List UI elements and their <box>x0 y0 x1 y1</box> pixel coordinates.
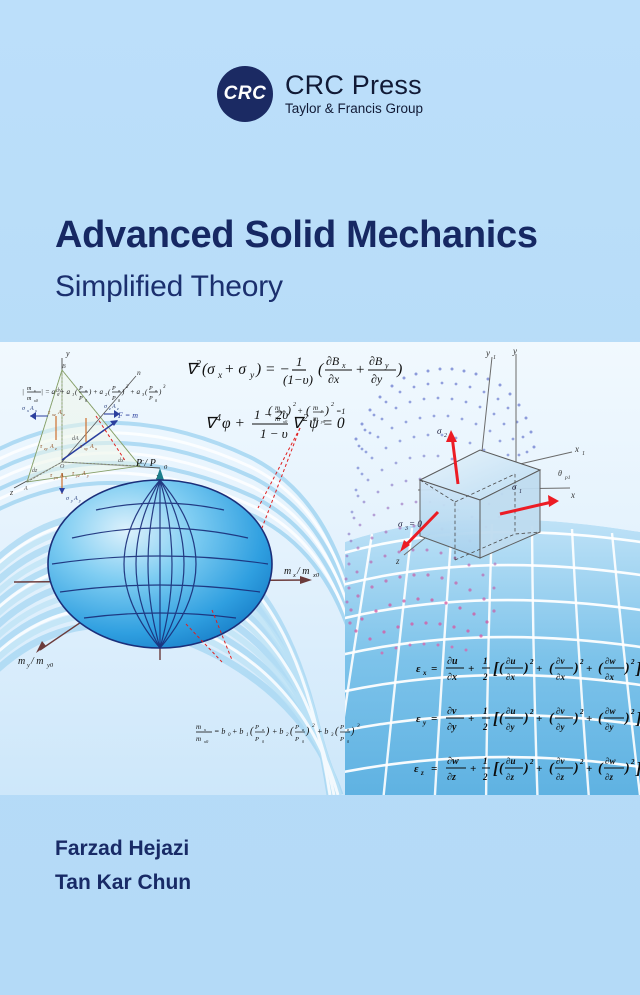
svg-text:a: a <box>262 727 264 732</box>
svg-text:/ m: / m <box>30 656 44 667</box>
svg-text:0: 0 <box>302 739 304 744</box>
svg-text:P: P <box>254 724 259 731</box>
svg-text:A: A <box>57 410 62 416</box>
vertex-label-B: B <box>62 364 66 370</box>
svg-text:2: 2 <box>196 359 201 370</box>
svg-text:ε: ε <box>416 713 421 725</box>
svg-text:a: a <box>85 388 87 393</box>
svg-text:2: 2 <box>630 758 635 766</box>
svg-text:∂y: ∂y <box>556 722 565 732</box>
svg-text:x: x <box>203 727 206 732</box>
svg-text:+: + <box>536 763 542 775</box>
svg-text:P: P <box>148 396 153 402</box>
crc-roundel-icon: CRC <box>217 66 273 122</box>
svg-text:P: P <box>339 736 344 743</box>
svg-text:+ b: + b <box>317 727 328 736</box>
svg-text:yz: yz <box>75 473 80 478</box>
svg-text:2: 2 <box>529 758 534 766</box>
svg-text:+: + <box>586 763 592 775</box>
svg-text:m: m <box>27 396 32 402</box>
svg-text:A: A <box>49 444 54 450</box>
svg-text:φ +: φ + <box>222 415 245 432</box>
svg-text:0: 0 <box>347 739 349 744</box>
svg-text:yx: yx <box>53 475 58 480</box>
svg-text:m: m <box>313 404 318 412</box>
book-cover: CRC CRC Press Taylor & Francis Group Adv… <box>0 0 640 995</box>
svg-text:x0: x0 <box>312 572 320 579</box>
svg-text:2: 2 <box>482 672 488 682</box>
svg-text:x: x <box>33 388 36 393</box>
svg-text:x: x <box>94 446 97 451</box>
svg-text:y: y <box>86 473 89 478</box>
svg-text:1: 1 <box>582 451 585 457</box>
book-subtitle: Simplified Theory <box>55 270 595 304</box>
svg-text:∂z: ∂z <box>506 772 514 782</box>
svg-text:1: 1 <box>72 392 74 397</box>
svg-text:=: = <box>431 713 437 725</box>
svg-text:∂z: ∂z <box>556 772 564 782</box>
svg-text:a: a <box>302 727 304 732</box>
svg-text:x: x <box>282 408 285 413</box>
svg-text:∂x: ∂x <box>605 672 614 682</box>
svg-text:/ m: / m <box>296 566 310 577</box>
svg-text:a: a <box>118 388 120 393</box>
axis-label-y: y <box>65 349 70 358</box>
svg-text:2: 2 <box>529 658 534 666</box>
svg-text:P: P <box>254 736 259 743</box>
svg-text:z: z <box>116 406 119 411</box>
svg-text:∂u: ∂u <box>506 706 515 716</box>
svg-text:x: x <box>26 408 29 413</box>
svg-text:0: 0 <box>85 398 87 403</box>
svg-text:P: P <box>339 724 344 731</box>
svg-text:+ σ: + σ <box>224 361 247 378</box>
svg-text:+: + <box>536 663 542 675</box>
svg-text:x: x <box>422 669 427 677</box>
book-title: Advanced Solid Mechanics <box>55 214 595 257</box>
svg-text:=: = <box>431 763 437 775</box>
axis-label-mx: m <box>284 566 291 577</box>
svg-text:y: y <box>249 371 255 381</box>
stress-label-sigma3: σ <box>398 519 403 529</box>
svg-text:1: 1 <box>246 733 249 738</box>
svg-text:∂w: ∂w <box>605 706 616 716</box>
axis-label-y1: y <box>485 348 490 358</box>
svg-text:]: ] <box>635 709 640 728</box>
svg-text:): ) <box>305 726 310 737</box>
svg-text:+ b: + b <box>272 727 283 736</box>
svg-text:P: P <box>148 386 153 392</box>
svg-text:A: A <box>73 496 78 502</box>
svg-text:=: = <box>431 663 437 675</box>
svg-text:∂x: ∂x <box>328 372 340 386</box>
svg-text:∂v: ∂v <box>556 756 565 766</box>
svg-text:2: 2 <box>579 708 584 716</box>
publisher-name: CRC Press <box>285 71 423 99</box>
svg-text:m: m <box>196 735 201 743</box>
svg-text:+: + <box>468 663 474 675</box>
svg-text:+: + <box>586 663 592 675</box>
angle-label: θ <box>558 469 562 478</box>
cover-artwork: ∇ 2 (σ x + σ y ) = − 1 (1−υ) ( ∂B x ∂x + <box>0 342 640 795</box>
svg-text:+: + <box>355 362 365 378</box>
svg-text:∂z: ∂z <box>447 772 456 783</box>
svg-text:m: m <box>313 415 318 423</box>
svg-text:(1−υ): (1−υ) <box>283 372 313 387</box>
vertex-label-A: A <box>23 486 28 492</box>
svg-text:+: + <box>586 713 592 725</box>
svg-text:1 − υ: 1 − υ <box>260 426 288 441</box>
svg-text:∂z: ∂z <box>605 772 613 782</box>
svg-text:+ b: + b <box>232 727 243 736</box>
axis-label-x1: x <box>574 444 579 454</box>
svg-text:y0: y0 <box>320 419 326 424</box>
svg-text:∂y: ∂y <box>447 722 457 733</box>
svg-text:A: A <box>89 444 94 450</box>
stress-label-sigma1: σ <box>512 482 517 492</box>
svg-text:∂x: ∂x <box>556 672 565 682</box>
svg-text:∂B: ∂B <box>369 354 383 368</box>
svg-text:= a: = a <box>45 388 55 396</box>
svg-text:0: 0 <box>118 398 120 403</box>
svg-text:|: | <box>41 388 43 396</box>
axis-label-y: y <box>512 346 517 356</box>
svg-text:∂y: ∂y <box>371 372 383 386</box>
svg-text:∂w: ∂w <box>605 656 616 666</box>
svg-text:∂v: ∂v <box>556 656 565 666</box>
svg-text:P: P <box>78 396 83 402</box>
grid-surface-right <box>298 519 640 795</box>
svg-text:A: A <box>81 471 86 477</box>
svg-text:xz: xz <box>51 412 56 417</box>
svg-text:P: P <box>111 396 116 402</box>
svg-text:∂u: ∂u <box>506 656 515 666</box>
svg-text:2: 2 <box>482 772 488 782</box>
svg-text:=1: =1 <box>336 407 345 416</box>
svg-text:∂x: ∂x <box>506 672 515 682</box>
svg-text:= 0: = 0 <box>409 519 422 529</box>
force-label: F = m <box>117 411 138 420</box>
svg-text:P: P <box>294 736 299 743</box>
svg-text:): ) <box>265 726 270 737</box>
svg-text:a: a <box>155 388 157 393</box>
svg-text:∂u: ∂u <box>506 756 515 766</box>
svg-text:3: 3 <box>404 526 408 532</box>
svg-text:1: 1 <box>493 355 496 361</box>
svg-text:∂v: ∂v <box>447 706 457 717</box>
origin-label: O <box>60 464 65 470</box>
svg-text:+: + <box>536 713 542 725</box>
svg-text:y: y <box>78 498 81 503</box>
svg-text:z: z <box>62 412 65 417</box>
svg-text:ε: ε <box>416 663 421 675</box>
svg-text:P: P <box>78 386 83 392</box>
svg-text:): ) <box>324 403 329 417</box>
svg-text:1: 1 <box>483 656 488 666</box>
svg-text:]: ] <box>635 659 640 678</box>
svg-text:4: 4 <box>216 413 221 424</box>
svg-text:y: y <box>70 498 73 503</box>
svg-text:): ) <box>286 403 291 417</box>
svg-text:z: z <box>54 446 57 451</box>
svg-text:p1: p1 <box>564 475 571 481</box>
svg-text:a: a <box>347 727 349 732</box>
author-name: Tan Kar Chun <box>55 866 191 900</box>
svg-text:+ a: + a <box>130 388 140 396</box>
svg-text:2: 2 <box>630 708 635 716</box>
svg-text:x: x <box>34 408 37 413</box>
axis-label-P: P / P <box>135 458 156 469</box>
svg-text:P: P <box>294 724 299 731</box>
svg-text:0: 0 <box>155 398 157 403</box>
svg-text:∂v: ∂v <box>556 706 565 716</box>
axis-label-z: z <box>395 556 400 566</box>
svg-text:m: m <box>196 723 201 731</box>
svg-text:+ a: + a <box>60 388 70 396</box>
svg-text:1: 1 <box>296 354 303 369</box>
svg-text:∂w: ∂w <box>447 756 459 767</box>
svg-text:zy: zy <box>43 446 48 451</box>
svg-text:3: 3 <box>356 723 360 729</box>
svg-text:+: + <box>470 763 476 775</box>
author-list: Farzad Hejazi Tan Kar Chun <box>55 832 191 900</box>
svg-text:x: x <box>64 475 67 480</box>
svg-text:1: 1 <box>519 489 522 495</box>
edge-label-dx: dx <box>118 458 124 464</box>
svg-text:xy: xy <box>83 446 88 451</box>
publisher-logo: CRC CRC Press Taylor & Francis Group <box>0 66 640 122</box>
publisher-group: Taylor & Francis Group <box>285 100 423 118</box>
svg-text:(σ: (σ <box>202 361 216 378</box>
svg-text:x: x <box>217 371 223 381</box>
normal-label: n <box>137 368 141 377</box>
svg-text:]: ] <box>635 759 640 778</box>
svg-text:y: y <box>384 361 389 370</box>
svg-text:y: y <box>320 408 323 413</box>
svg-text:2: 2 <box>482 722 488 732</box>
svg-text:A: A <box>29 406 34 412</box>
svg-text:∂y: ∂y <box>506 722 515 732</box>
svg-text:2: 2 <box>630 658 635 666</box>
svg-text:+: + <box>468 713 474 725</box>
svg-text:m: m <box>27 386 32 392</box>
svg-text:1: 1 <box>483 756 488 766</box>
svg-text:+: + <box>297 406 303 416</box>
svg-text:∂B: ∂B <box>326 354 340 368</box>
svg-text:∂y: ∂y <box>605 722 614 732</box>
svg-text:2: 2 <box>331 402 334 408</box>
svg-text:|: | <box>22 388 24 396</box>
svg-text:y: y <box>26 662 30 669</box>
svg-text:∂u: ∂u <box>447 656 458 667</box>
svg-text:+ a: + a <box>93 388 103 396</box>
svg-text:0: 0 <box>262 739 264 744</box>
svg-text:2: 2 <box>579 658 584 666</box>
svg-text:P: P <box>111 386 116 392</box>
svg-text:∂w: ∂w <box>605 756 616 766</box>
svg-text:): ) <box>350 726 355 737</box>
svg-text:2: 2 <box>312 723 315 729</box>
svg-text:2: 2 <box>293 402 296 408</box>
svg-text:y0: y0 <box>46 662 54 669</box>
svg-text:∂x: ∂x <box>447 672 457 683</box>
svg-text:2: 2 <box>444 433 447 439</box>
svg-text:ε: ε <box>414 763 419 775</box>
crc-roundel-text: CRC <box>224 83 267 105</box>
svg-text:m: m <box>275 404 280 412</box>
svg-text:x0: x0 <box>203 739 209 744</box>
area-label-dA: dA <box>72 436 79 442</box>
svg-text:m: m <box>275 415 280 423</box>
svg-text:z: z <box>108 406 111 411</box>
svg-text:): ) <box>396 361 402 378</box>
svg-text:2: 2 <box>579 758 584 766</box>
edge-label-dz: dz <box>32 468 38 474</box>
svg-text:x0: x0 <box>282 419 288 424</box>
svg-text:x: x <box>341 361 346 370</box>
stress-label-sigma2: σ <box>437 426 442 436</box>
svg-text:= b: = b <box>214 727 225 736</box>
svg-text:A: A <box>59 473 64 479</box>
svg-text:x0: x0 <box>33 398 38 403</box>
svg-text:z: z <box>420 769 424 777</box>
author-name: Farzad Hejazi <box>55 832 191 866</box>
svg-text:x: x <box>292 572 296 579</box>
publisher-wordmark: CRC Press Taylor & Francis Group <box>285 71 423 118</box>
axis-label-my: m <box>18 656 25 667</box>
axis-label-x: x <box>570 490 575 500</box>
svg-text:2: 2 <box>529 708 534 716</box>
svg-text:1: 1 <box>483 706 488 716</box>
svg-text:A: A <box>111 404 116 410</box>
